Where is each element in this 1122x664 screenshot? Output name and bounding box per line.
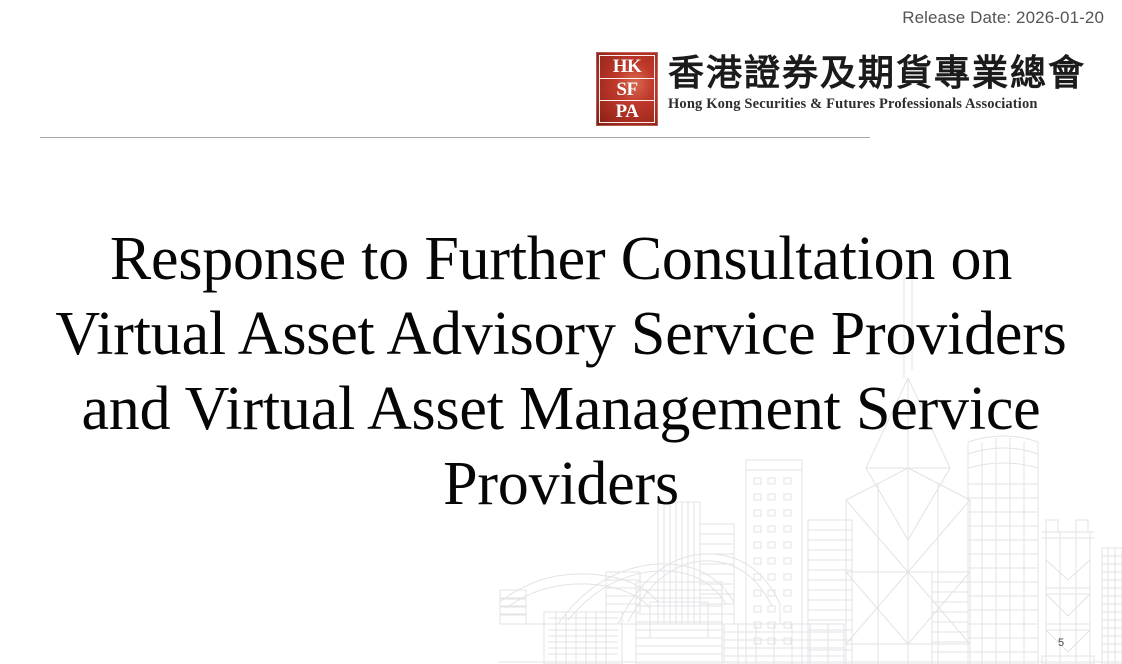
release-date-label: Release Date: 2026-01-20: [902, 8, 1104, 28]
hksfpa-logo-mark-icon: HK SF PA: [596, 52, 658, 126]
logo-english-name: Hong Kong Securities & Futures Professio…: [668, 97, 1086, 113]
logo-wordmark: 香港證券及期貨專業總會 Hong Kong Securities & Futur…: [668, 52, 1086, 113]
logo-chinese-name: 香港證券及期貨專業總會: [668, 52, 1086, 94]
logo-mark-row-sf: SF: [599, 78, 655, 101]
slide-title-block: Response to Further Consultation on Virt…: [0, 222, 1122, 522]
page-number: 5: [1058, 637, 1064, 649]
header-divider: [40, 137, 870, 138]
logo-mark-row-hk: HK: [599, 55, 655, 78]
logo-mark-text-sf: SF: [616, 80, 637, 99]
organization-logo: HK SF PA 香港證券及期貨專業總會 Hong Kong Securitie…: [596, 52, 1086, 126]
title-line-4: Providers: [14, 447, 1108, 522]
title-line-3: and Virtual Asset Management Service: [14, 372, 1108, 447]
logo-mark-text-hk: HK: [613, 57, 642, 76]
logo-mark-text-pa: PA: [616, 102, 639, 121]
presentation-slide: Release Date: 2026-01-20 HK SF PA 香港證券及期…: [0, 0, 1122, 664]
title-line-2: Virtual Asset Advisory Service Providers: [14, 297, 1108, 372]
page-title: Response to Further Consultation on Virt…: [14, 222, 1108, 522]
logo-mark-row-pa: PA: [599, 100, 655, 123]
title-line-1: Response to Further Consultation on: [14, 222, 1108, 297]
